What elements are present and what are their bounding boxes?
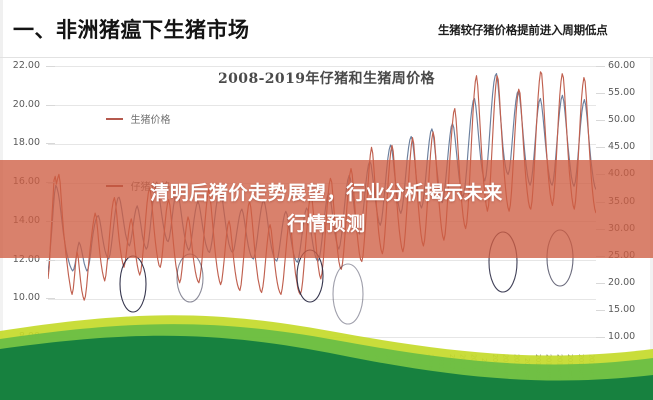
slide-header: 一、非洲猪瘟下生猪市场 生猪较仔猪价格提前进入周期低点 [0,0,653,58]
overlay-line-1: 清明后猪价走势展望，行业分析揭示未来 [150,182,503,204]
x-axis-tick-label: 2011年9月29日 [212,354,219,400]
x-axis-tick-label: 2014年9月25日 [340,354,347,400]
overlay-line-2: 行情预测 [287,213,365,235]
x-axis-tick-label: 2012年6月28日 [244,354,251,400]
x-axis-tick-label: 2008年1月4日 [50,358,57,400]
x-axis-tick-label: 2017年1月1日 [437,358,444,400]
x-axis-tick-label: 2008年4月3日 [61,358,68,400]
right-axis-tick-mark [596,337,605,338]
x-axis-tick-label: 2018年9月20日 [512,354,519,400]
x-axis-tick-label: 2009年10月1日 [126,354,133,400]
x-axis-tick-label: 2013年9月26日 [298,354,305,400]
x-axis-tick-label: 2015年1月1日 [351,358,358,400]
x-axis-tick-label: 2008年10月2日 [83,354,90,400]
x-axis-tick-label: 2015年9月24日 [383,354,390,400]
x-axis-tick-label: 2009年4月2日 [104,358,111,400]
left-axis-tick: 22.00 [13,60,40,71]
right-axis-tick: 20.00 [608,277,635,288]
x-axis-tick-label: 2013年6月27日 [287,354,294,400]
x-axis-tick-label: 2013年1月1日 [265,358,272,400]
x-axis-tick-label: 2016年6月23日 [416,354,423,400]
x-axis-tick-label: 2019年6月20日 [545,354,552,400]
left-axis-tick-mark [46,260,55,261]
left-axis-tick: 20.00 [13,99,40,110]
x-axis-tick-label: 2015年3月26日 [362,354,369,400]
x-axis-tick-label: 2009年1月1日 [93,358,100,400]
x-axis-tick-label: 2011年6月30日 [201,354,208,400]
x-axis-tick-label: 2012年1月1日 [222,358,229,400]
x-axis-tick-label: 2011年3月31日 [190,354,197,400]
x-axis-tick-label: 2016年3月24日 [405,354,412,400]
left-axis-tick: 8.00 [19,331,40,342]
cycle-low-ellipse [120,256,146,312]
x-axis-tick-label: 2018年6月21日 [502,354,509,400]
right-axis-tick: 45.00 [608,141,635,152]
x-axis-tick-label: 2017年3月23日 [448,354,455,400]
x-axis-tick-label: 2013年3月28日 [276,354,283,400]
left-axis-tick-mark [46,298,55,299]
header-note: 生猪较仔猪价格提前进入周期低点 [438,22,608,38]
right-axis-tick: 60.00 [608,60,635,71]
left-axis-tick-mark [46,143,55,144]
legend-item-hog: 生猪价格 [106,110,170,130]
x-axis-tick-label: 2009年7月2日 [115,358,122,400]
cycle-low-ellipse [333,264,363,324]
left-axis-tick-mark [46,337,55,338]
right-axis-tick-mark [596,283,605,284]
x-axis-tick-label: 2019年12月4日 [588,354,595,400]
x-axis-tick-label: 2010年1月1日 [136,358,143,400]
page-title: 一、非洲猪瘟下生猪市场 [13,14,250,44]
right-axis-tick: 10.00 [608,331,635,342]
x-axis-tick-label: 2019年1月1日 [523,358,530,400]
title-overlay-band: 清明后猪价走势展望，行业分析揭示未来 行情预测 [0,160,653,258]
right-axis-tick: 55.00 [608,87,635,98]
screenshot-root: 一、非洲猪瘟下生猪市场 生猪较仔猪价格提前进入周期低点 2008-2019年仔猪… [0,0,653,400]
x-axis-tick-label: 2017年6月22日 [459,354,466,400]
x-axis-tick-label: 2016年9月22日 [426,354,433,400]
x-axis-tick-label: 2011年1月1日 [179,358,186,400]
x-axis-tick-label: 2018年1月1日 [480,358,487,400]
legend-swatch-icon [106,118,123,120]
overlay-text: 清明后猪价走势展望，行业分析揭示未来 行情预测 [124,178,529,240]
left-axis-tick-mark [46,66,55,67]
x-axis-tick-label: 2014年1月1日 [308,358,315,400]
right-axis-tick-mark [596,66,605,67]
x-axis-labels: 2008年1月4日2008年4月3日2008年7月3日2008年10月2日200… [48,348,596,400]
left-axis-tick: 18.00 [13,137,40,148]
right-axis-tick: 15.00 [608,304,635,315]
x-axis-tick-label: 2019年9月19日 [555,354,562,400]
x-axis-tick-label: 2012年9月27日 [255,354,262,400]
x-axis-tick-label: 2019年11月4日 [577,354,584,400]
x-axis-tick-label: 2008年7月3日 [72,358,79,400]
left-axis-tick: 10.00 [13,292,40,303]
right-axis-tick-mark [596,93,605,94]
right-axis-tick-mark [596,310,605,311]
right-axis-tick-mark [596,120,605,121]
x-axis-tick-label: 2010年9月30日 [169,354,176,400]
x-axis-tick-label: 2012年3月29日 [233,354,240,400]
x-axis-tick-label: 2015年6月25日 [373,354,380,400]
x-axis-tick-label: 2019年3月21日 [534,354,541,400]
x-axis-tick-label: 2018年3月22日 [491,354,498,400]
left-axis-tick-mark [46,105,55,106]
x-axis-tick-label: 2010年4月1日 [147,358,154,400]
x-axis-tick-label: 2016年1月1日 [394,358,401,400]
x-axis-tick-label: 2017年9月21日 [469,354,476,400]
x-axis-tick-label: 2014年6月26日 [330,354,337,400]
x-axis-tick-label: 2010年7月1日 [158,358,165,400]
legend-label: 生猪价格 [130,111,170,126]
x-axis-tick-label: 2019年10月3日 [566,354,573,400]
right-axis-tick-mark [596,147,605,148]
x-axis-tick-label: 2014年3月27日 [319,354,326,400]
right-axis-tick: 50.00 [608,114,635,125]
